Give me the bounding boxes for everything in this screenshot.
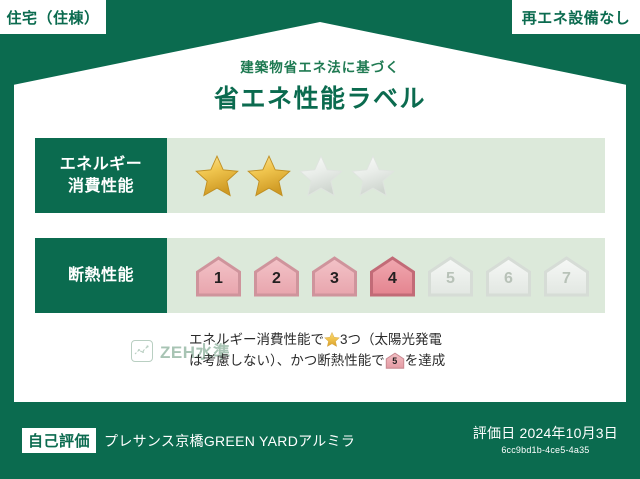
star-empty-icon bbox=[351, 155, 395, 197]
footer-right: 評価日 2024年10月3日 6cc9bd1b-4ce5-4a35 bbox=[473, 425, 640, 456]
grade-house-5: 5 bbox=[427, 255, 474, 297]
zeh-description: エネルギー消費性能で3つ（太陽光発電 は考慮しない）、かつ断熱性能で5を達成 bbox=[189, 330, 445, 372]
zeh-desc-part1: エネルギー消費性能で bbox=[189, 332, 324, 347]
grade-house-number: 4 bbox=[369, 255, 416, 297]
title-subtitle: 建築物省エネ法に基づく bbox=[0, 56, 640, 76]
inline-grade-badge: 5 bbox=[385, 352, 405, 369]
grade-house-7: 7 bbox=[543, 255, 590, 297]
row-insulation-label: 断熱性能 bbox=[35, 238, 167, 313]
row-insulation-label-line1: 断熱性能 bbox=[68, 265, 134, 287]
grade-house-number: 3 bbox=[311, 255, 358, 297]
document-id: 6cc9bd1b-4ce5-4a35 bbox=[473, 445, 618, 456]
energy-performance-label: 住宅（住棟） 再エネ設備なし 建築物省エネ法に基づく 省エネ性能ラベル エネルギ… bbox=[0, 0, 640, 479]
zeh-mark-icon bbox=[131, 340, 153, 362]
grade-house-number: 6 bbox=[485, 255, 532, 297]
zeh-brand: ZEH水準 bbox=[35, 338, 153, 363]
grade-house-6: 6 bbox=[485, 255, 532, 297]
title-block: 建築物省エネ法に基づく 省エネ性能ラベル bbox=[0, 56, 640, 115]
page-title: 省エネ性能ラベル bbox=[0, 79, 640, 115]
badge-renewable-energy: 再エネ設備なし bbox=[512, 0, 640, 34]
grade-house-1: 1 bbox=[195, 255, 242, 297]
row-energy-performance: エネルギー 消費性能 bbox=[35, 138, 605, 213]
star-filled-icon bbox=[195, 155, 239, 197]
self-evaluation-badge: 自己評価 bbox=[22, 428, 96, 453]
badge-housing-type: 住宅（住棟） bbox=[0, 0, 106, 34]
grade-house-number: 1 bbox=[195, 255, 242, 297]
inline-grade-badge-number: 5 bbox=[385, 352, 405, 369]
grade-house-number: 7 bbox=[543, 255, 590, 297]
insulation-grade-scale: 1234567 bbox=[167, 238, 605, 313]
footer-left: 自己評価 プレサンス京橋GREEN YARDアルミラ bbox=[0, 428, 355, 453]
row-energy-label: エネルギー 消費性能 bbox=[35, 138, 167, 213]
star-rating bbox=[167, 138, 605, 213]
star-filled-icon bbox=[247, 155, 291, 197]
row-energy-label-line2: 消費性能 bbox=[68, 176, 134, 198]
row-insulation-performance: 断熱性能 1234567 bbox=[35, 238, 605, 313]
zeh-standard-note: ZEH水準 エネルギー消費性能で3つ（太陽光発電 は考慮しない）、かつ断熱性能で… bbox=[35, 330, 605, 372]
grade-house-number: 2 bbox=[253, 255, 300, 297]
star-empty-icon bbox=[299, 155, 343, 197]
zeh-desc-star-count: 3つ（太陽光発電 bbox=[340, 332, 442, 347]
building-name: プレサンス京橋GREEN YARDアルミラ bbox=[104, 431, 355, 451]
grade-house-number: 5 bbox=[427, 255, 474, 297]
grade-house-3: 3 bbox=[311, 255, 358, 297]
inline-star-icon bbox=[324, 332, 340, 347]
zeh-desc-part3: を達成 bbox=[405, 353, 446, 368]
evaluation-date: 評価日 2024年10月3日 bbox=[473, 425, 618, 443]
grade-house-4: 4 bbox=[369, 255, 416, 297]
footer: 自己評価 プレサンス京橋GREEN YARDアルミラ 評価日 2024年10月3… bbox=[0, 402, 640, 479]
grade-house-2: 2 bbox=[253, 255, 300, 297]
zeh-desc-part2: は考慮しない）、かつ断熱性能で bbox=[189, 353, 385, 368]
row-energy-label-line1: エネルギー bbox=[60, 154, 143, 176]
